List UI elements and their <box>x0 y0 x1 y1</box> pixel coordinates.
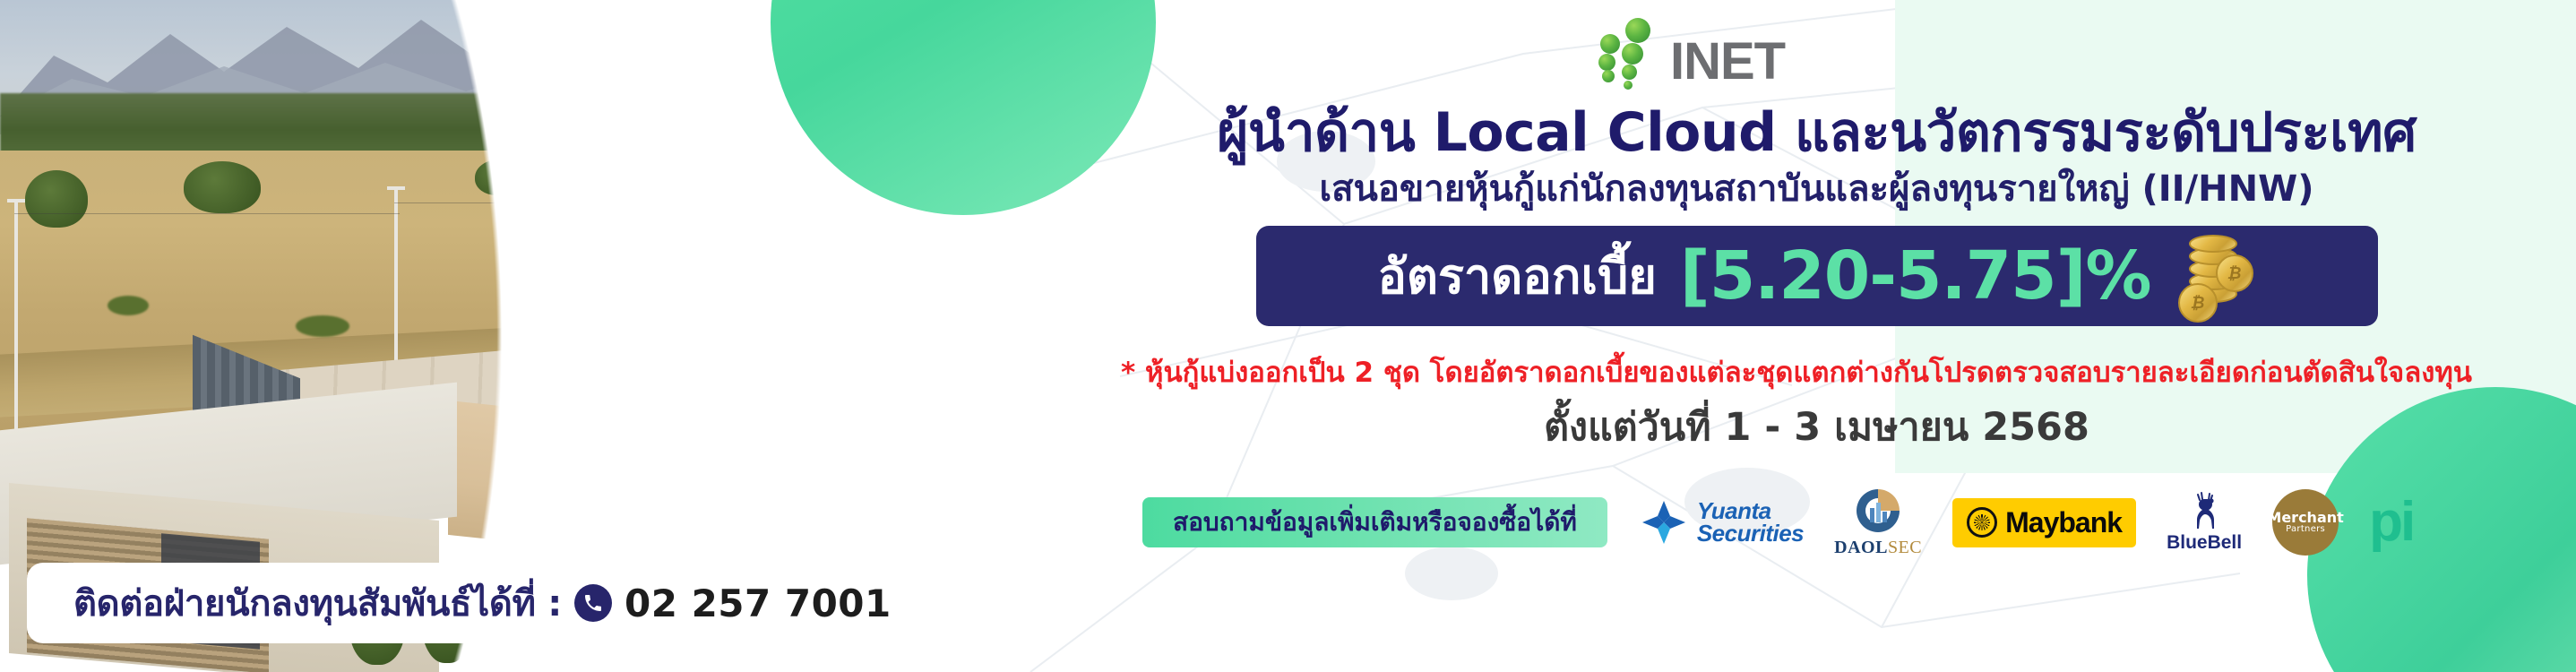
daol-text-light: SEC <box>1888 538 1922 557</box>
partner-logo-maybank[interactable]: Maybank <box>1952 487 2136 558</box>
inet-logo-text: INET <box>1670 37 1785 86</box>
interest-rate-value: [5.20-5.75]% <box>1680 237 2151 314</box>
pi-wordmark-icon: pi <box>2369 500 2413 545</box>
partner-logo-bluebell[interactable]: BlueBell <box>2167 487 2242 558</box>
bluebell-wordmark: BlueBell <box>2167 532 2242 554</box>
merchant-line1: Merchant <box>2267 511 2343 525</box>
utility-pole <box>14 199 18 432</box>
partner-logos: Yuanta Securities <box>1640 487 2413 558</box>
inet-logo: INET <box>1595 16 1917 86</box>
maybank-wordmark: Maybank <box>2005 506 2122 539</box>
partner-logo-merchant-partners[interactable]: Merchant Partners <box>2272 487 2339 558</box>
solo-tree <box>475 159 523 195</box>
partner-logo-daol[interactable]: DAOLSEC <box>1834 487 1922 558</box>
contact-label: ติดต่อฝ่ายนักลงทุนสัมพันธ์ได้ที่ : <box>73 574 562 632</box>
promo-banner: ติดต่อฝ่ายนักลงทุนสัมพันธ์ได้ที่ : 02 25… <box>0 0 2576 672</box>
power-line <box>14 213 400 214</box>
merchant-partners-circle-icon: Merchant Partners <box>2272 489 2339 556</box>
shrub <box>296 315 349 337</box>
investor-relations-contact[interactable]: ติดต่อฝ่ายนักลงทุนสัมพันธ์ได้ที่ : 02 25… <box>27 563 833 643</box>
offering-period: ตั้งแต่วันที่ 1 - 3 เมษายน 2568 <box>1057 396 2576 457</box>
yuanta-wordmark: Yuanta Securities <box>1697 500 1804 546</box>
daol-circle-icon <box>1854 487 1902 535</box>
bluebell-deer-icon <box>2185 491 2223 530</box>
merchant-line2: Partners <box>2286 525 2325 534</box>
partner-logo-pi[interactable]: pi <box>2369 487 2413 558</box>
page-subtitle: เสนอขายหุ้นกู้แก่นักลงทุนสถาบันและผู้ลงท… <box>1057 159 2576 217</box>
enquiry-subscribe-button[interactable]: สอบถามข้อมูลเพิ่มเติมหรือจองซื้อได้ที่ <box>1142 497 1607 547</box>
cta-and-partners-row: สอบถามข้อมูลเพิ่มเติมหรือจองซื้อได้ที่ <box>1142 482 2576 563</box>
inet-bubbles-logo-icon <box>1595 16 1661 86</box>
solo-tree <box>25 170 88 228</box>
daol-wordmark: DAOLSEC <box>1834 538 1922 558</box>
shrub <box>609 278 656 296</box>
promo-content: INET ผู้นำด้าน Local Cloud และนวัตกรรมระ… <box>1057 0 2576 672</box>
interest-rate-label: อัตราดอกเบี้ย <box>1377 237 1656 314</box>
yuanta-star-icon <box>1640 498 1688 547</box>
daol-text-bold: DAOL <box>1834 538 1888 557</box>
maybank-tiger-icon <box>1967 507 1997 538</box>
phone-icon <box>574 584 612 622</box>
shrub <box>108 296 149 315</box>
interest-rate-highlight: อัตราดอกเบี้ย [5.20-5.75]% ₿ ₿ <box>1256 226 2378 326</box>
solo-tree <box>184 161 261 213</box>
yuanta-line2: Securities <box>1697 522 1804 545</box>
power-line <box>394 202 780 203</box>
partner-logo-yuanta[interactable]: Yuanta Securities <box>1640 487 1804 558</box>
gold-coins-icon: ₿ ₿ <box>2175 229 2257 323</box>
contact-phone-number: 02 257 7001 <box>625 582 892 625</box>
disclaimer-note: * หุ้นกู้แบ่งออกเป็น 2 ชุด โดยอัตราดอกเบ… <box>959 349 2576 394</box>
